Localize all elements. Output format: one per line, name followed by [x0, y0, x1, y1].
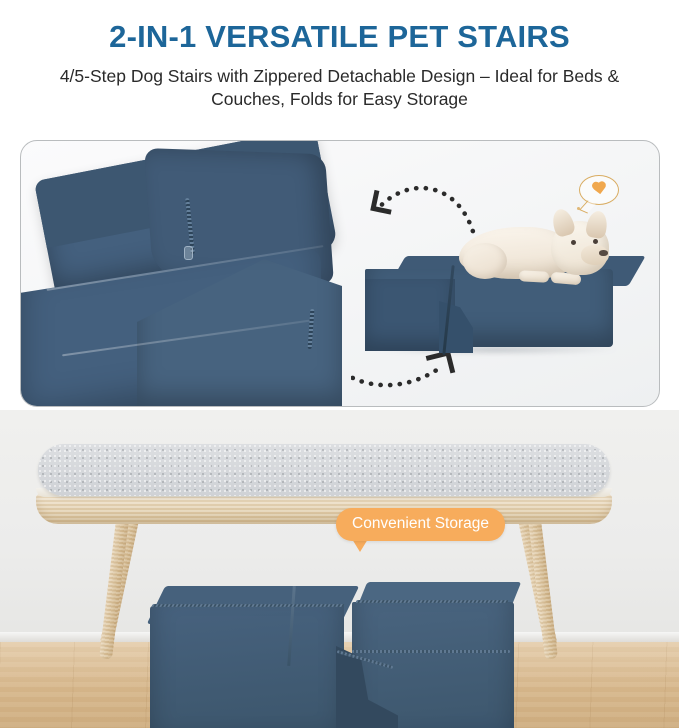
arrowhead-lower-right	[429, 353, 453, 375]
dog-paw	[519, 270, 550, 283]
page-title: 2-IN-1 VERSATILE PET STAIRS	[0, 20, 679, 54]
dog-haunch	[463, 243, 507, 279]
heart-icon	[591, 181, 607, 197]
speech-bubble-dot	[577, 207, 580, 210]
bench-apron	[36, 494, 612, 524]
dog-eye	[571, 240, 576, 245]
zippered-detail-scene	[21, 141, 351, 406]
stairs-piping	[151, 604, 344, 607]
arrowhead-upper-left	[373, 193, 392, 212]
dog-on-stairs-scene	[351, 141, 660, 406]
dog-eye	[593, 239, 598, 244]
dotted-arrow-lower-right-path	[351, 365, 443, 385]
stairs-piping	[352, 650, 510, 653]
bench-cushion	[38, 444, 610, 496]
dog-nose	[599, 250, 608, 256]
page-subtitle: 4/5-Step Dog Stairs with Zippered Detach…	[0, 65, 679, 111]
header: 2-IN-1 VERSATILE PET STAIRS 4/5-Step Dog…	[0, 0, 679, 111]
product-detail-panel	[20, 140, 660, 407]
stairs-left-body	[150, 606, 344, 728]
room-scene	[0, 410, 679, 728]
zipper-pull-icon	[184, 246, 193, 260]
status-badge: Convenient Storage	[336, 508, 505, 541]
stairs-piping	[355, 600, 508, 603]
french-bulldog	[459, 209, 619, 285]
